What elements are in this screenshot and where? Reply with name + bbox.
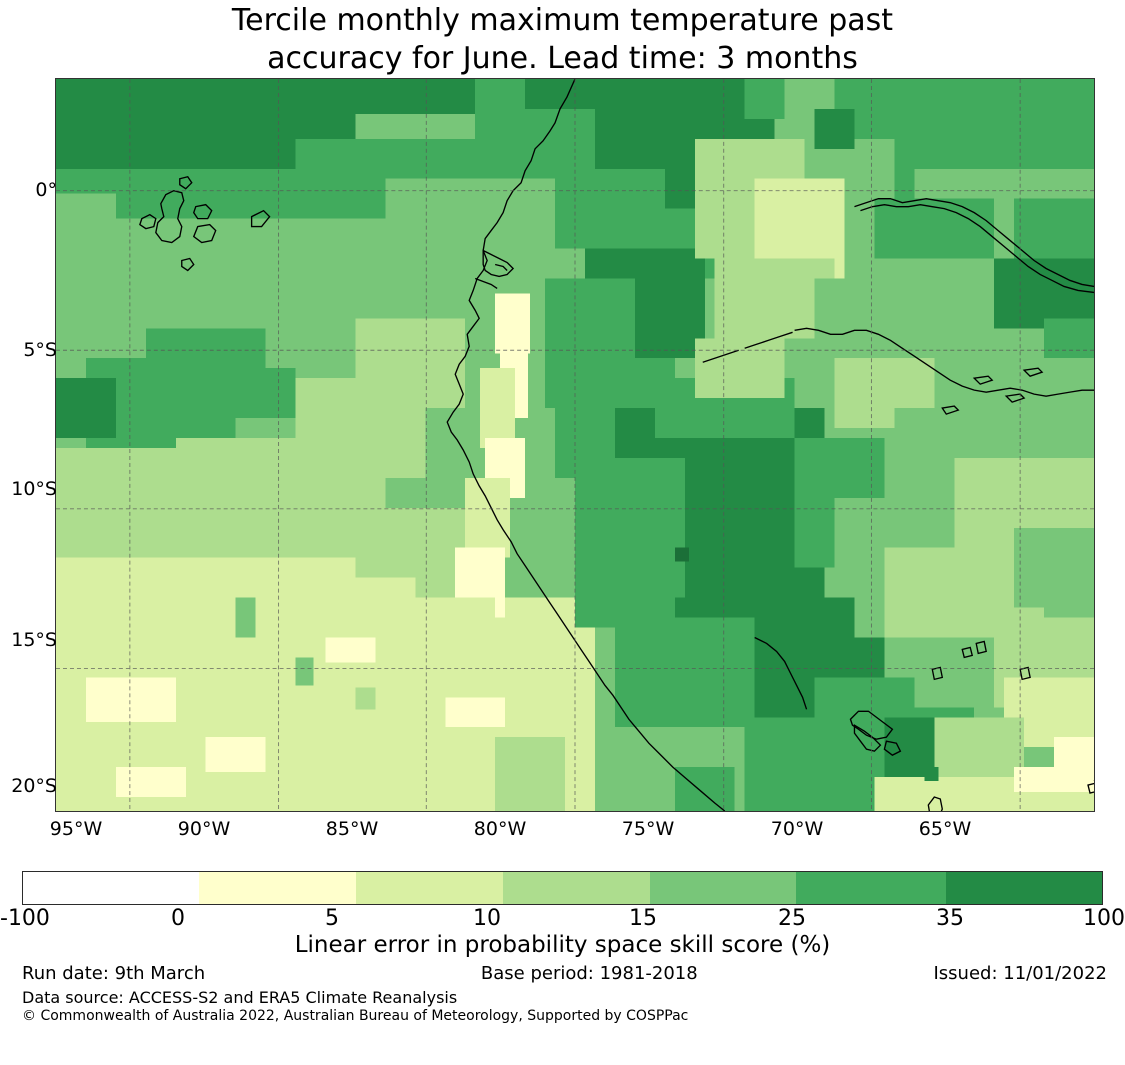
colorbar-tick-6: 35 [936,906,964,931]
colorbar[interactable] [22,871,1103,905]
colorbar-tick-2: 5 [325,906,339,931]
colorbar-segment-1 [199,872,355,904]
colorbar-label: Linear error in probability space skill … [0,932,1125,958]
y-tick-4: 20°S [0,775,57,797]
colorbar-tick-3: 10 [473,906,501,931]
x-tick-5: 70°W [737,818,857,840]
y-tick-2: 10°S [0,478,57,500]
skill-score-map-figure: Tercile monthly maximum temperature past… [0,0,1125,1065]
colorbar-tick-0: -100 [0,906,50,931]
x-tick-4: 75°W [588,818,708,840]
x-tick-6: 65°W [885,818,1005,840]
map-raster [56,79,1094,811]
colorbar-segment-4 [650,872,796,904]
x-tick-0: 95°W [16,818,136,840]
figure-title: Tercile monthly maximum temperature past… [0,0,1125,78]
colorbar-segment-6 [946,872,1102,904]
footer-metadata-row: Run date: 9th March Base period: 1981-20… [22,963,1107,984]
x-tick-1: 90°W [144,818,264,840]
map-plot-area[interactable] [55,78,1095,812]
x-tick-3: 80°W [440,818,560,840]
colorbar-segment-5 [796,872,945,904]
colorbar-segment-3 [503,872,650,904]
copyright-notice: © Commonwealth of Australia 2022, Austra… [22,1008,1107,1024]
colorbar-tick-4: 15 [629,906,657,931]
y-tick-1: 5°S [0,339,57,361]
y-tick-0: 0° [0,179,57,201]
x-tick-2: 85°W [292,818,412,840]
y-tick-3: 15°S [0,629,57,651]
colorbar-segment-0 [23,872,199,904]
colorbar-gradient [22,871,1103,905]
colorbar-segment-2 [356,872,503,904]
colorbar-tick-5: 25 [778,906,806,931]
issued-date: Issued: 11/01/2022 [933,963,1107,984]
colorbar-tick-1: 0 [171,906,185,931]
base-period: Base period: 1981-2018 [481,963,698,984]
run-date: Run date: 9th March [22,963,205,984]
colorbar-tick-7: 100 [1083,906,1125,931]
data-source: Data source: ACCESS-S2 and ERA5 Climate … [22,988,1107,1007]
